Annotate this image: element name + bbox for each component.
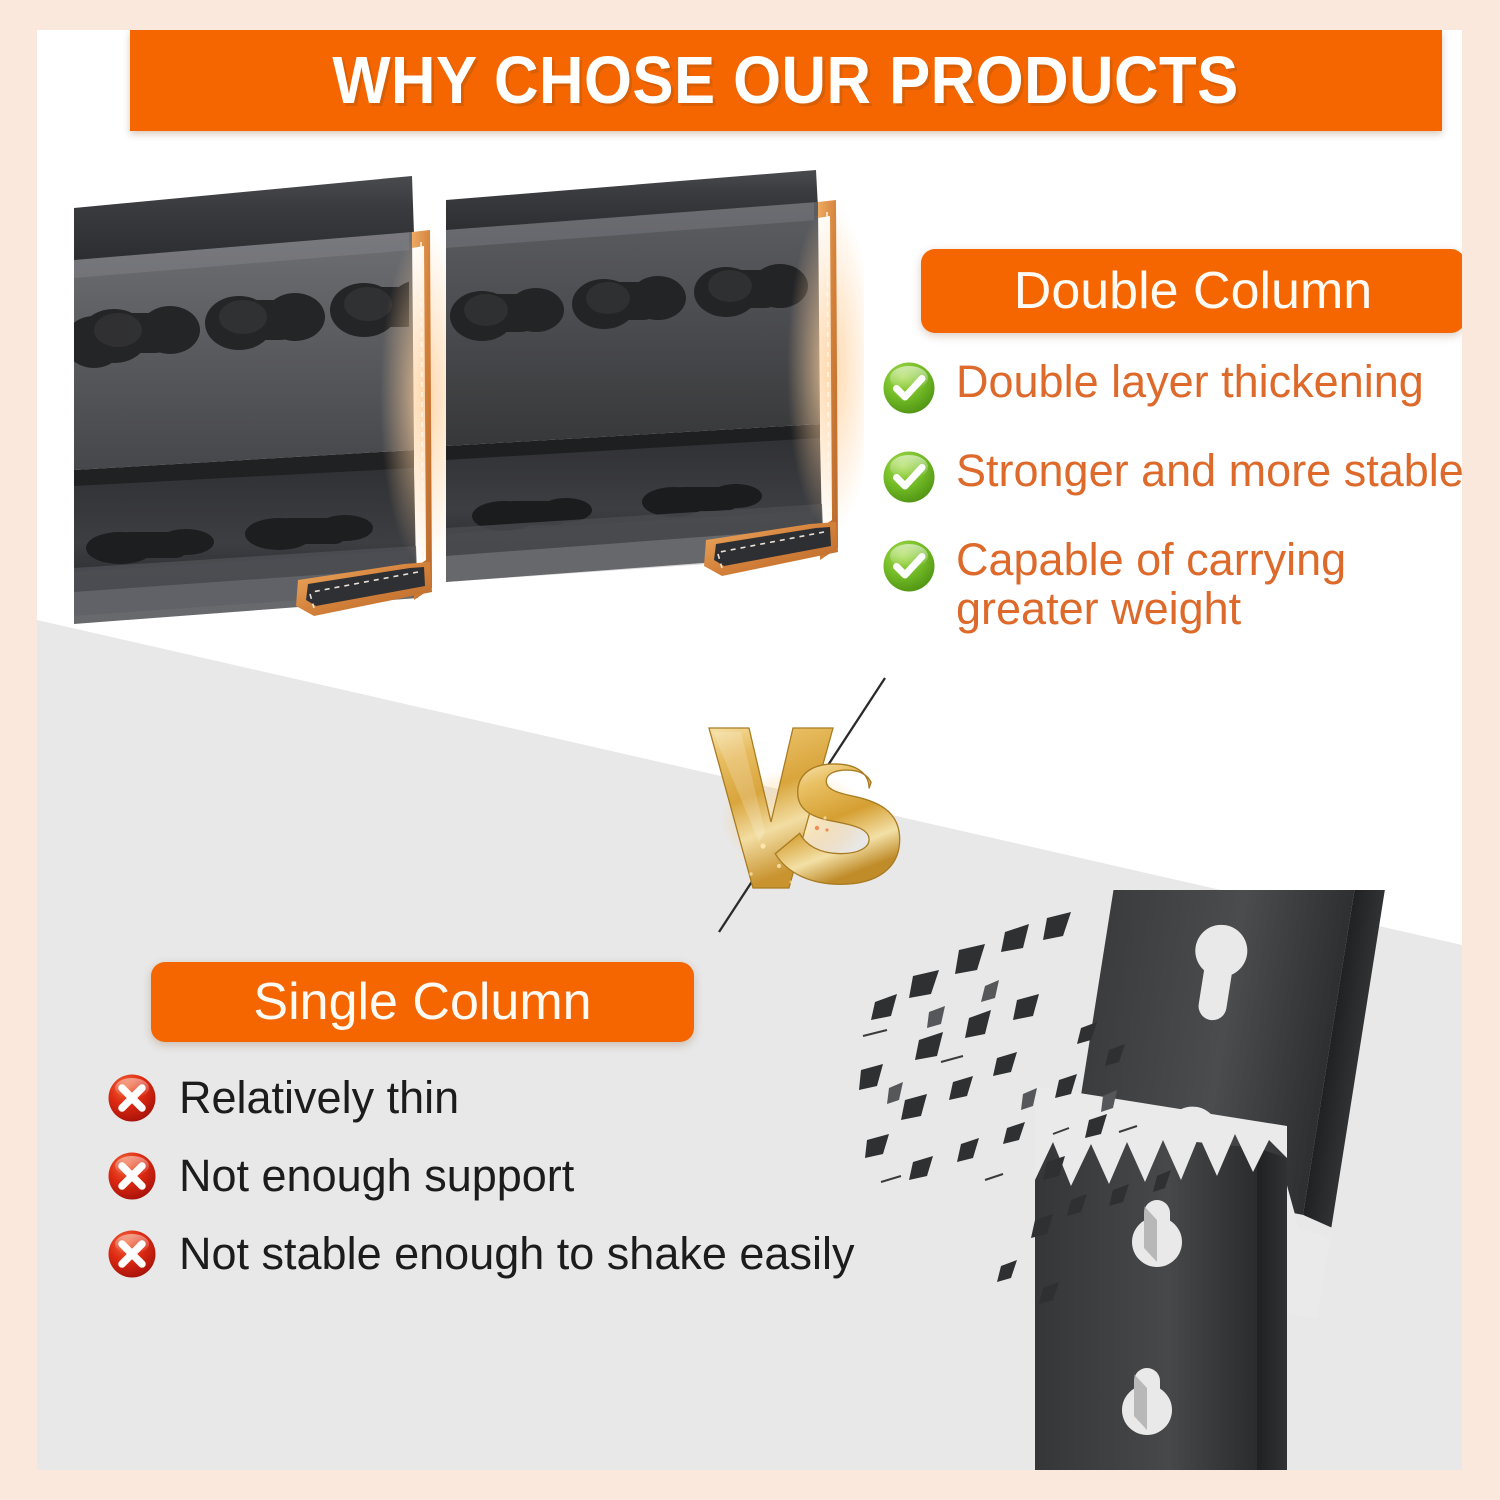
cons-item-label: Not stable enough to shake easily — [179, 1229, 854, 1279]
list-item: Not enough support — [107, 1151, 927, 1201]
pros-item-label: Stronger and more stable — [956, 447, 1462, 496]
page-title: WHY CHOSE OUR PRODUCTS — [333, 47, 1239, 114]
cons-item-label: Not enough support — [179, 1151, 574, 1201]
list-item: Relatively thin — [107, 1073, 927, 1123]
cross-circle-icon — [107, 1151, 157, 1201]
cons-list: Relatively thin Not enough support — [107, 1073, 927, 1279]
pros-item-label: Capable of carrying greater weight — [956, 536, 1346, 633]
check-circle-icon — [882, 361, 936, 415]
header-banner: WHY CHOSE OUR PRODUCTS — [130, 30, 1442, 131]
badge-single-column: Single Column — [151, 962, 694, 1042]
list-item: Stronger and more stable — [882, 447, 1462, 504]
cross-circle-icon — [107, 1229, 157, 1279]
pros-list: Double layer thickening Stronger and mor… — [882, 358, 1462, 633]
broken-single-column-photo — [857, 890, 1462, 1470]
list-item: Capable of carrying greater weight — [882, 536, 1462, 633]
pros-item-label: Double layer thickening — [956, 358, 1424, 407]
cons-item-label: Relatively thin — [179, 1073, 459, 1123]
list-item: Double layer thickening — [882, 358, 1462, 415]
content-canvas: WHY CHOSE OUR PRODUCTS Double Column — [37, 30, 1462, 1470]
double-column-rails-photo — [74, 168, 864, 638]
list-item: Not stable enough to shake easily — [107, 1229, 927, 1279]
check-circle-icon — [882, 450, 936, 504]
badge-single-column-label: Single Column — [253, 976, 591, 1028]
badge-double-column: Double Column — [921, 249, 1462, 333]
product-comparison-infographic: WHY CHOSE OUR PRODUCTS Double Column — [0, 0, 1500, 1500]
cross-circle-icon — [107, 1073, 157, 1123]
badge-double-column-label: Double Column — [1014, 265, 1372, 317]
check-circle-icon — [882, 539, 936, 593]
